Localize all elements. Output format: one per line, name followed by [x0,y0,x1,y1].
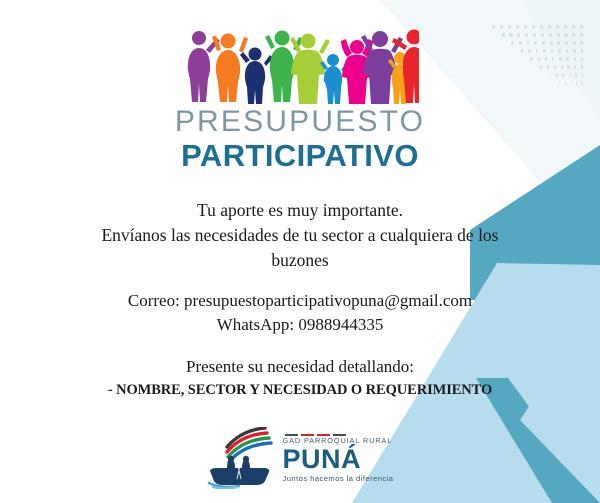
logo-word-presupuesto: PRESUPUESTO [175,107,425,137]
poster-canvas: PRESUPUESTO PARTICIPATIVO Tu aporte es m… [0,0,600,503]
gad-puna-logo-inner: GAD PARROQUIAL RURAL PUNÁ Juntos hacemos… [207,427,394,489]
lead-line-3: buzones [30,248,570,273]
instruction-block: Presente su necesidad detallando: - NOMB… [0,355,600,401]
figure-5 [290,34,330,105]
contact-block: Correo: presupuestoparticipativopuna@gma… [0,289,600,337]
gad-puna-logo: GAD PARROQUIAL RURAL PUNÁ Juntos hacemos… [0,427,600,489]
figure-2 [212,34,248,103]
instruction-prompt: Presente su necesidad detallando: [0,355,600,379]
figure-6 [320,54,349,104]
presupuesto-participativo-logo: PRESUPUESTO PARTICIPATIVO [0,24,600,171]
instruction-requirement: - NOMBRE, SECTOR Y NECESIDAD O REQUERIMI… [0,380,600,401]
email-line[interactable]: Correo: presupuestoparticipativopuna@gma… [0,289,600,313]
puna-wordmark: GAD PARROQUIAL RURAL PUNÁ Juntos hacemos… [283,434,394,482]
lead-line-1: Tu aporte es muy importante. [30,198,570,223]
whatsapp-line[interactable]: WhatsApp: 0988944335 [0,313,600,337]
logo-word-participativo: PARTICIPATIVO [181,140,419,171]
puna-org-name: PUNÁ [283,446,362,473]
lead-paragraph: Tu aporte es muy importante. Envíanos la… [0,198,600,273]
figure-3 [240,48,273,105]
message-content: Tu aporte es muy importante. Envíanos la… [0,198,600,400]
boat-logo-icon [207,427,281,489]
people-group-icon [181,24,419,104]
lead-line-2: Envíanos las necesidades de tu sector a … [30,223,570,248]
puna-slogan: Juntos hacemos la diferencia [283,475,394,483]
